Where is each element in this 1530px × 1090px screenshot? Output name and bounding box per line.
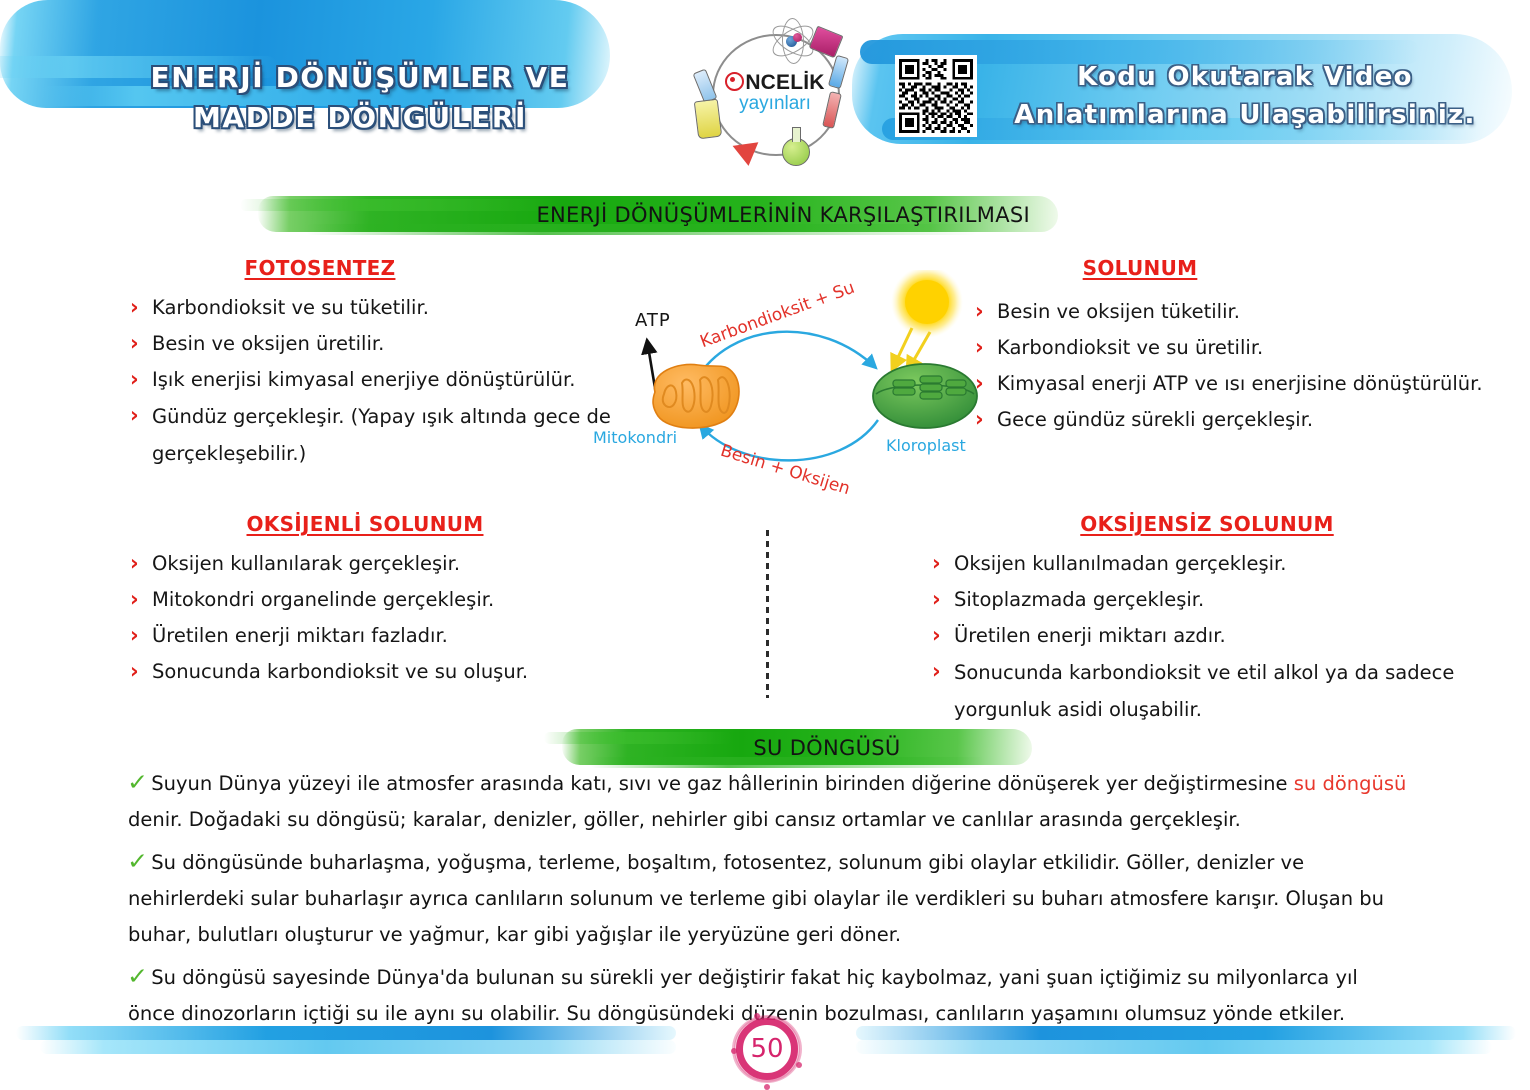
mitochondria-icon — [653, 364, 739, 428]
section-banner-water-cycle: SU DÖNGÜSÜ — [562, 725, 1032, 771]
section-oksijenli-solunum: OKSİJENLİ SOLUNUM Oksijen kullanılarak g… — [130, 512, 650, 690]
oksijensiz-title: OKSİJENSİZ SOLUNUM — [932, 512, 1482, 536]
section-solunum: SOLUNUM Besin ve oksijen tüketilir. Karb… — [975, 256, 1520, 438]
qr-hint-line-1: Kodu Okutarak Video — [980, 58, 1510, 96]
oksijenli-list: Oksijen kullanılarak gerçekleşir. Mitoko… — [130, 546, 650, 690]
section-fotosentez: FOTOSENTEZ Karbondioksit ve su tüketilir… — [130, 256, 630, 472]
oksijenli-title: OKSİJENLİ SOLUNUM — [130, 512, 600, 536]
list-item: Sonucunda karbondioksit ve su oluşur. — [130, 654, 650, 690]
fotosentez-title: FOTOSENTEZ — [130, 256, 510, 280]
page-title-line-2: MADDE DÖNGÜLERİ — [120, 98, 600, 138]
list-item: Gündüz gerçekleşir. (Yapay ışık altında … — [130, 398, 630, 472]
page-title-line-1: ENERJİ DÖNÜŞÜMLER VE — [120, 58, 600, 98]
page-number: 50 — [736, 1018, 798, 1080]
list-item: Oksijen kullanılarak gerçekleşir. — [130, 546, 650, 582]
paragraph-text-post: denir. Doğadaki su döngüsü; karalar, den… — [128, 808, 1241, 831]
vertical-dotted-divider — [766, 530, 769, 698]
solunum-title: SOLUNUM — [975, 256, 1305, 280]
logo-brand-text: NCELİK — [745, 71, 824, 94]
list-item: Besin ve oksijen tüketilir. — [975, 294, 1520, 330]
footer-brush-right-1 — [856, 1026, 1516, 1040]
list-item: Karbondioksit ve su üretilir. — [975, 330, 1520, 366]
section-banner-comparison: ENERJİ DÖNÜŞÜMLERİNİN KARŞILAŞTIRILMASI — [258, 192, 1058, 238]
check-icon: ✓ — [127, 844, 148, 880]
footer-brush-left-2 — [40, 1040, 676, 1054]
page-number-badge: 50 — [736, 1018, 798, 1080]
paragraph: ✓Su döngüsünde buharlaşma, yoğuşma, terl… — [128, 844, 1408, 953]
section-banner-water-cycle-label: SU DÖNGÜSÜ — [562, 725, 1032, 771]
list-item: Kimyasal enerji ATP ve ısı enerjisine dö… — [975, 366, 1520, 402]
paragraph: ✓Suyun Dünya yüzeyi ile atmosfer arasınd… — [128, 765, 1408, 838]
chloroplast-icon — [873, 364, 977, 428]
footer-brush-right-2 — [856, 1040, 1492, 1054]
qr-hint-line-2: Anlatımlarına Ulaşabilirsiniz. — [980, 96, 1510, 134]
page-header: ENERJİ DÖNÜŞÜMLER VE MADDE DÖNGÜLERİ NCE… — [0, 0, 1530, 175]
list-item: Gece gündüz sürekli gerçekleşir. — [975, 402, 1520, 438]
atp-label: ATP — [635, 310, 671, 331]
fotosentez-list: Karbondioksit ve su tüketilir. Besin ve … — [130, 290, 630, 472]
water-cycle-paragraphs: ✓Suyun Dünya yüzeyi ile atmosfer arasınd… — [128, 765, 1408, 1038]
page-footer: 50 — [0, 1008, 1530, 1080]
logo-brand: NCELİK — [712, 70, 838, 94]
funnel-red-icon — [733, 142, 762, 167]
section-oksijensiz-solunum: OKSİJENSİZ SOLUNUM Oksijen kullanılmadan… — [932, 512, 1512, 728]
logo-text: NCELİK yayınları — [712, 70, 838, 115]
check-icon: ✓ — [127, 765, 148, 801]
page-title: ENERJİ DÖNÜŞÜMLER VE MADDE DÖNGÜLERİ — [120, 58, 600, 138]
check-icon: ✓ — [127, 959, 148, 995]
logo-subtitle: yayınları — [712, 93, 838, 115]
mitochondria-label: Mitokondri — [593, 428, 677, 447]
photosynthesis-respiration-cycle-diagram: ATP Mitokondri Kloroplast Karbondioksit … — [600, 270, 1000, 500]
flask-green-icon — [782, 138, 810, 166]
logo-o-icon — [725, 72, 744, 91]
list-item: Sitoplazmada gerçekleşir. — [932, 582, 1512, 618]
paragraph-text-pre: Su döngüsünde buharlaşma, yoğuşma, terle… — [128, 851, 1384, 946]
sun-ray-1 — [892, 328, 912, 370]
solunum-list: Besin ve oksijen tüketilir. Karbondioksi… — [975, 294, 1520, 438]
footer-brush-left-1 — [16, 1026, 676, 1040]
qr-hint-text: Kodu Okutarak Video Anlatımlarına Ulaşab… — [980, 58, 1510, 134]
worksheet-page: ENERJİ DÖNÜŞÜMLER VE MADDE DÖNGÜLERİ NCE… — [0, 0, 1530, 1080]
list-item: Üretilen enerji miktarı fazladır. — [130, 618, 650, 654]
oksijensiz-list: Oksijen kullanılmadan gerçekleşir. Sitop… — [932, 546, 1512, 728]
list-item: Besin ve oksijen üretilir. — [130, 326, 630, 362]
qr-code[interactable] — [895, 55, 977, 137]
paragraph-text-pre: Suyun Dünya yüzeyi ile atmosfer arasında… — [151, 772, 1293, 795]
list-item: Işık enerjisi kimyasal enerjiye dönüştür… — [130, 362, 630, 398]
qr-code-graphic — [899, 59, 973, 133]
publisher-logo: NCELİK yayınları — [690, 8, 860, 168]
list-item: Mitokondri organelinde gerçekleşir. — [130, 582, 650, 618]
section-banner-comparison-label: ENERJİ DÖNÜŞÜMLERİNİN KARŞILAŞTIRILMASI — [258, 192, 1058, 238]
paragraph-highlight: su döngüsü — [1294, 772, 1407, 795]
list-item: Karbondioksit ve su tüketilir. — [130, 290, 630, 326]
chloroplast-label: Kloroplast — [886, 436, 966, 455]
list-item: Sonucunda karbondioksit ve etil alkol ya… — [932, 654, 1512, 728]
list-item: Oksijen kullanılmadan gerçekleşir. — [932, 546, 1512, 582]
list-item: Üretilen enerji miktarı azdır. — [932, 618, 1512, 654]
